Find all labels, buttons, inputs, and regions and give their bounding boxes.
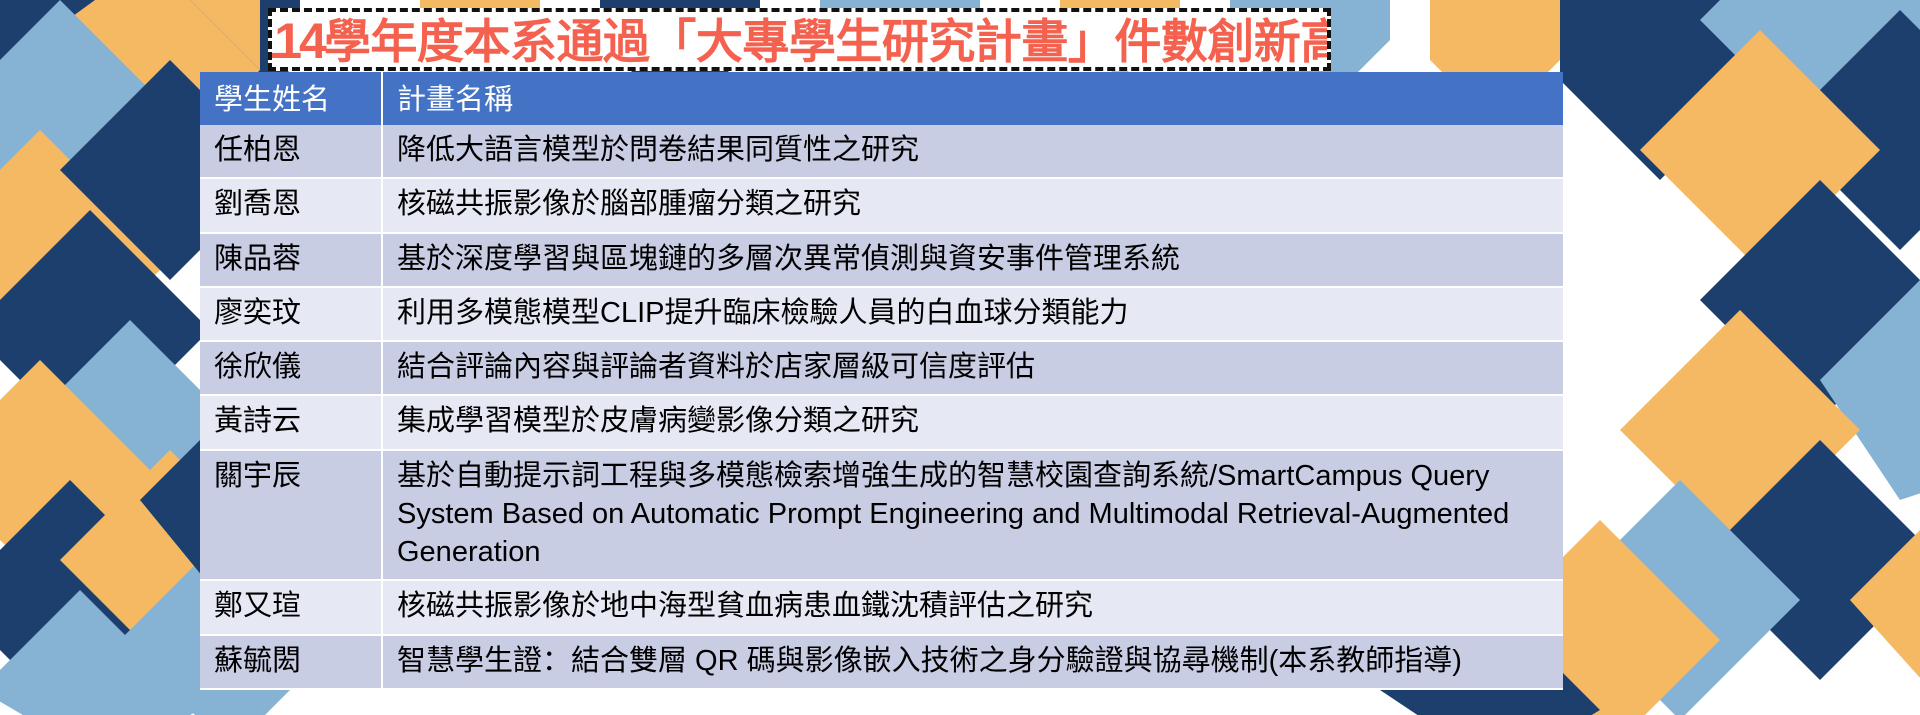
cell-project-title: 智慧學生證：結合雙層 QR 碼與影像嵌入技術之身分驗證與協尋機制(本系教師指導) xyxy=(382,635,1563,689)
column-header-project-title: 計畫名稱 xyxy=(382,72,1563,125)
cell-student-name: 廖奕玟 xyxy=(200,287,382,341)
cell-project-title: 降低大語言模型於問卷結果同質性之研究 xyxy=(382,125,1563,178)
title-number: 114 xyxy=(268,13,324,69)
cell-project-title: 結合評論內容與評論者資料於店家層級可信度評估 xyxy=(382,341,1563,395)
cell-student-name: 劉喬恩 xyxy=(200,178,382,232)
project-table-container: 學生姓名 計畫名稱 任柏恩 降低大語言模型於問卷結果同質性之研究 劉喬恩 核磁共… xyxy=(200,72,1563,690)
table-row: 關宇辰 基於自動提示詞工程與多模態檢索增強生成的智慧校園查詢系統/SmartCa… xyxy=(200,450,1563,581)
cell-project-title: 利用多模態模型CLIP提升臨床檢驗人員的白血球分類能力 xyxy=(382,287,1563,341)
table-row: 黃詩云 集成學習模型於皮膚病變影像分類之研究 xyxy=(200,395,1563,449)
cell-project-title: 基於深度學習與區塊鏈的多層次異常偵測與資安事件管理系統 xyxy=(382,233,1563,287)
table-row: 陳品蓉 基於深度學習與區塊鏈的多層次異常偵測與資安事件管理系統 xyxy=(200,233,1563,287)
cell-student-name: 陳品蓉 xyxy=(200,233,382,287)
cell-student-name: 任柏恩 xyxy=(200,125,382,178)
table-header-row: 學生姓名 計畫名稱 xyxy=(200,72,1563,125)
cell-student-name: 黃詩云 xyxy=(200,395,382,449)
cell-student-name: 關宇辰 xyxy=(200,450,382,581)
cell-project-title: 集成學習模型於皮膚病變影像分類之研究 xyxy=(382,395,1563,449)
column-header-student-name: 學生姓名 xyxy=(200,72,382,125)
cell-student-name: 徐欣儀 xyxy=(200,341,382,395)
table-body: 任柏恩 降低大語言模型於問卷結果同質性之研究 劉喬恩 核磁共振影像於腦部腫瘤分類… xyxy=(200,125,1563,689)
table-row: 劉喬恩 核磁共振影像於腦部腫瘤分類之研究 xyxy=(200,178,1563,232)
table-row: 任柏恩 降低大語言模型於問卷結果同質性之研究 xyxy=(200,125,1563,178)
slide-title-banner: 114學年度本系通過「大專學生研究計畫」件數創新高 xyxy=(268,8,1331,71)
table-row: 鄭又瑄 核磁共振影像於地中海型貧血病患血鐵沈積評估之研究 xyxy=(200,580,1563,634)
table-row: 蘇毓閎 智慧學生證：結合雙層 QR 碼與影像嵌入技術之身分驗證與協尋機制(本系教… xyxy=(200,635,1563,689)
project-table: 學生姓名 計畫名稱 任柏恩 降低大語言模型於問卷結果同質性之研究 劉喬恩 核磁共… xyxy=(200,72,1563,690)
cell-student-name: 蘇毓閎 xyxy=(200,635,382,689)
table-header: 學生姓名 計畫名稱 xyxy=(200,72,1563,125)
cell-project-title: 核磁共振影像於腦部腫瘤分類之研究 xyxy=(382,178,1563,232)
table-row: 廖奕玟 利用多模態模型CLIP提升臨床檢驗人員的白血球分類能力 xyxy=(200,287,1563,341)
cell-student-name: 鄭又瑄 xyxy=(200,580,382,634)
table-row: 徐欣儀 結合評論內容與評論者資料於店家層級可信度評估 xyxy=(200,341,1563,395)
cell-project-title: 基於自動提示詞工程與多模態檢索增強生成的智慧校園查詢系統/SmartCampus… xyxy=(382,450,1563,581)
page-title: 114學年度本系通過「大專學生研究計畫」件數創新高 xyxy=(268,16,1331,66)
cell-project-title: 核磁共振影像於地中海型貧血病患血鐵沈積評估之研究 xyxy=(382,580,1563,634)
title-rest: 學年度本系通過「大專學生研究計畫」件數創新高 xyxy=(324,15,1331,68)
